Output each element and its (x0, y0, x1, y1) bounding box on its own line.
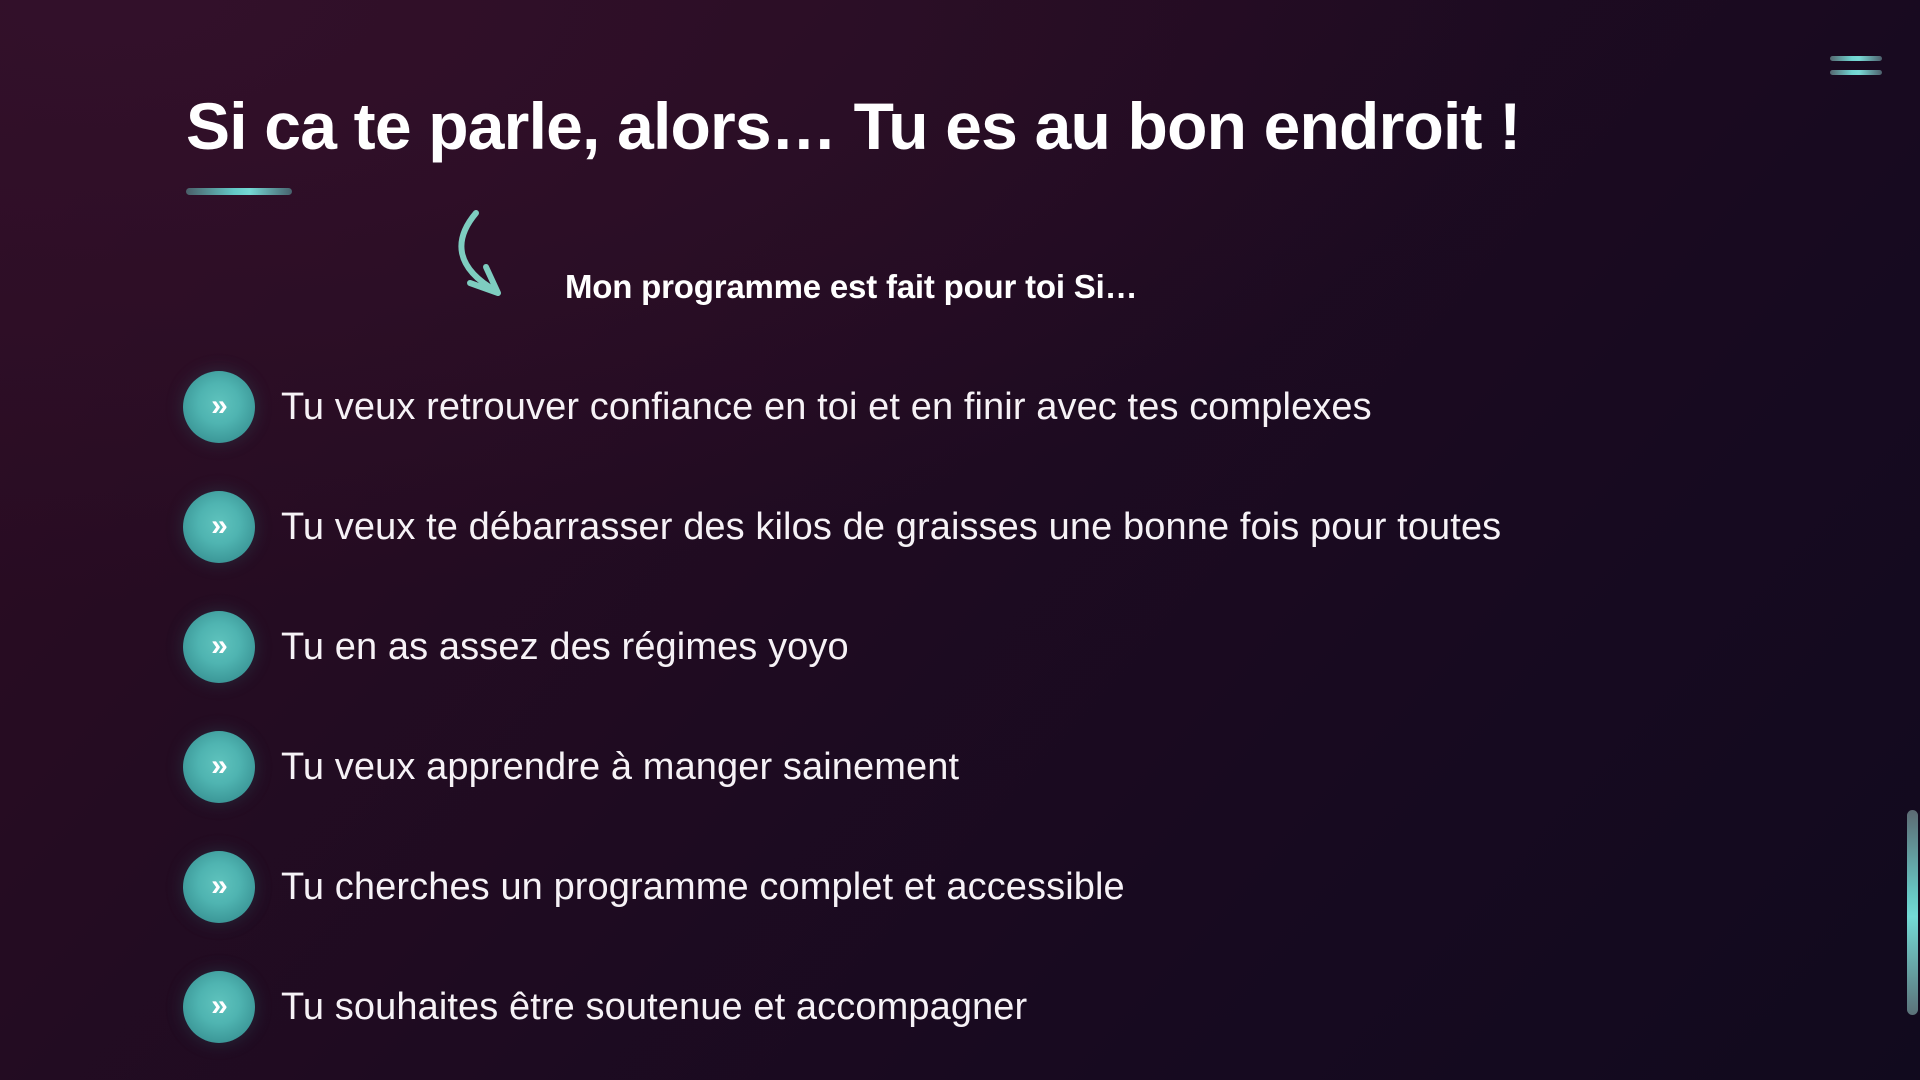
list-item-label: Tu souhaites être soutenue et accompagne… (281, 986, 1027, 1029)
list-item: » Tu veux te débarrasser des kilos de gr… (183, 490, 1850, 564)
double-chevron-icon: » (183, 611, 255, 683)
list-item-label: Tu veux apprendre à manger sainement (281, 746, 959, 789)
title-underline-rule (186, 188, 292, 195)
double-chevron-icon: » (183, 371, 255, 443)
curved-down-right-arrow-icon (448, 205, 558, 315)
list-item-label: Tu cherches un programme complet et acce… (281, 866, 1125, 909)
page-title: Si ca te parle, alors… Tu es au bon endr… (186, 92, 1860, 162)
double-chevron-icon: » (183, 971, 255, 1043)
hero-subtitle: Mon programme est fait pour toi Si… (565, 268, 1137, 306)
double-chevron-icon: » (183, 731, 255, 803)
menu-toggle-button[interactable] (1830, 52, 1882, 78)
hamburger-menu-icon-bar-2 (1830, 70, 1882, 75)
hamburger-menu-icon-bar-1 (1830, 56, 1882, 61)
list-item: » Tu veux retrouver confiance en toi et … (183, 370, 1850, 444)
list-item: » Tu en as assez des régimes yoyo (183, 610, 1850, 684)
list-item-label: Tu veux retrouver confiance en toi et en… (281, 386, 1372, 429)
list-item: » Tu cherches un programme complet et ac… (183, 850, 1850, 924)
page-scrollbar-thumb[interactable] (1907, 810, 1918, 1015)
list-item: » Tu veux apprendre à manger sainement (183, 730, 1850, 804)
hero-heading-block: Si ca te parle, alors… Tu es au bon endr… (186, 92, 1860, 195)
double-chevron-icon: » (183, 491, 255, 563)
double-chevron-icon: » (183, 851, 255, 923)
list-item-label: Tu veux te débarrasser des kilos de grai… (281, 506, 1501, 549)
list-item-label: Tu en as assez des régimes yoyo (281, 626, 849, 669)
page-scrollbar-track[interactable] (1908, 0, 1920, 1080)
benefits-list: » Tu veux retrouver confiance en toi et … (183, 370, 1850, 1044)
list-item: » Tu souhaites être soutenue et accompag… (183, 970, 1850, 1044)
